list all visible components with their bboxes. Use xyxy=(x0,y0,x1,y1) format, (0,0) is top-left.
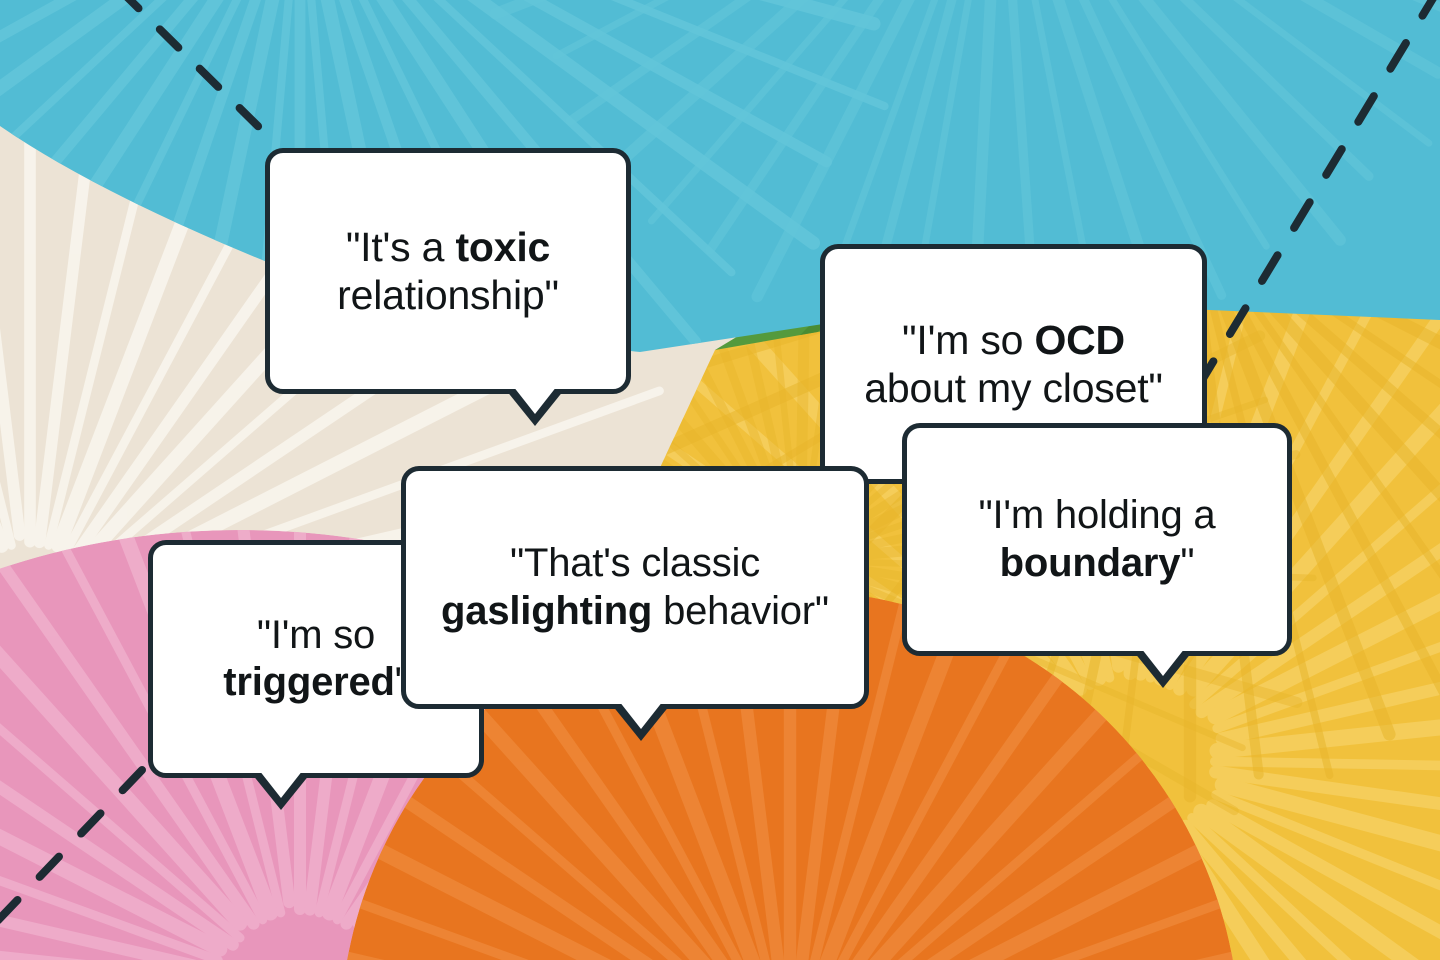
speech-bubble-boundary: "I'm holding a boundary" xyxy=(902,423,1292,656)
speech-bubble-triggered-tail-fill xyxy=(259,770,303,798)
speech-bubble-gaslighting-text: "That's classic gaslighting behavior" xyxy=(425,540,845,634)
speech-bubble-toxic-tail-fill xyxy=(513,386,557,414)
speech-bubble-gaslighting-tail-fill xyxy=(619,701,663,729)
speech-bubble-toxic-text: "It's a toxic relationship" xyxy=(321,223,575,320)
speech-bubble-triggered-text: "I'm so triggered" xyxy=(207,612,425,706)
illustration-canvas: "It's a toxic relationship" "I'm so OCD … xyxy=(0,0,1440,960)
speech-bubble-boundary-tail-fill xyxy=(1141,648,1185,676)
speech-bubble-toxic: "It's a toxic relationship" xyxy=(265,148,631,394)
speech-bubble-ocd-text: "I'm so OCD about my closet" xyxy=(848,316,1179,413)
speech-bubble-gaslighting: "That's classic gaslighting behavior" xyxy=(401,466,869,709)
speech-bubble-boundary-text: "I'm holding a boundary" xyxy=(963,492,1232,586)
